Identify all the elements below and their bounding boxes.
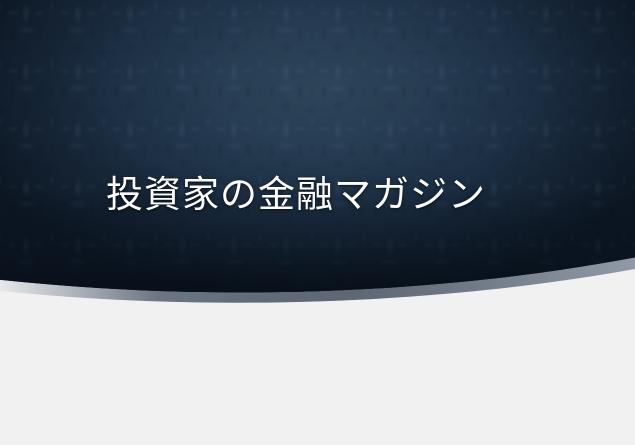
title-slide: 投資家の金融マガジン — [0, 0, 635, 445]
slide-title: 投資家の金融マガジン — [106, 172, 486, 218]
title-block: 投資家の金融マガジン — [0, 172, 592, 218]
